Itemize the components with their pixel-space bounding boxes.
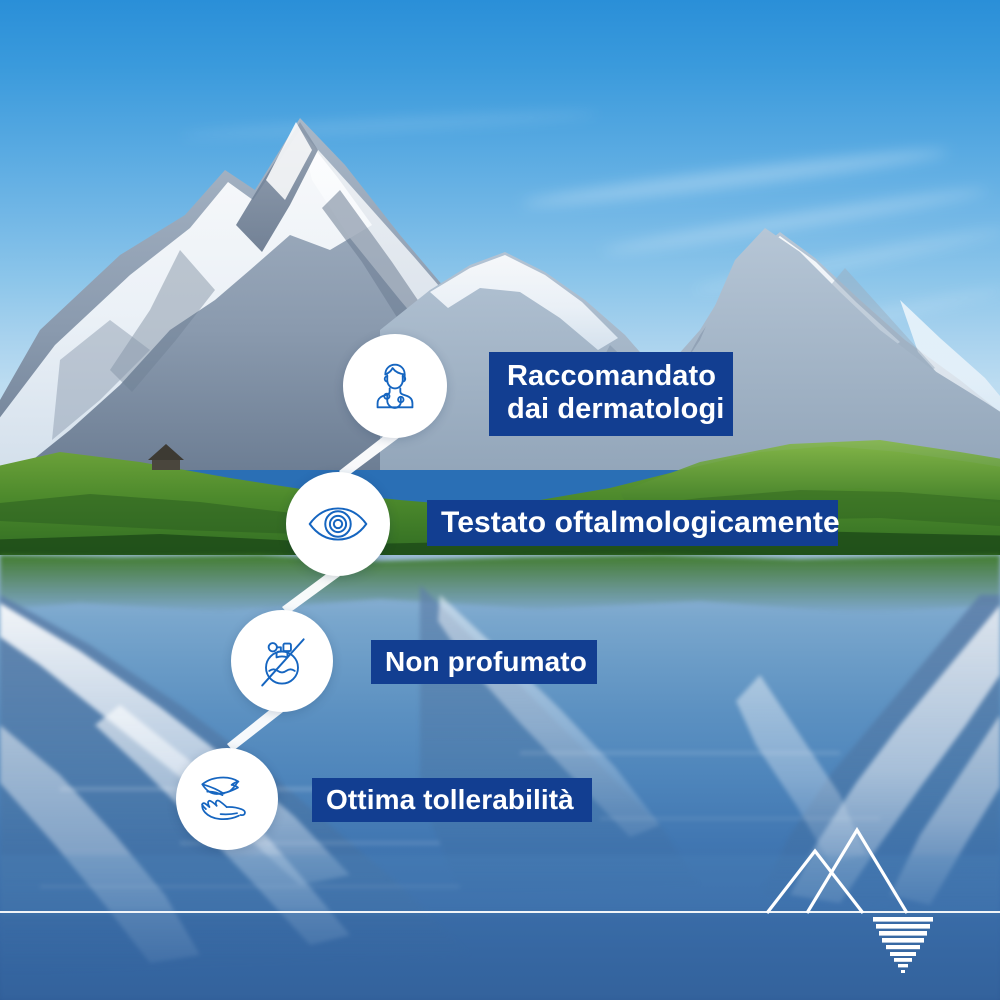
badge-bubble-no-perfume bbox=[231, 610, 333, 712]
mountain-range bbox=[0, 0, 1000, 560]
badge-label: Testato oftalmologicamente bbox=[441, 506, 840, 540]
no-perfume-icon bbox=[250, 629, 314, 693]
badge-bubble-hand-feather bbox=[176, 748, 278, 850]
badge-chip-fragrance-free[interactable]: Non profumato bbox=[371, 640, 597, 684]
badge-chip-ophthalmologically-tested[interactable]: Testato oftalmologicamente bbox=[427, 500, 838, 546]
badge-label-line-2: dai dermatologi bbox=[507, 393, 724, 426]
badge-bubble-dermatologists bbox=[343, 334, 447, 438]
inverted-triangle-mark bbox=[873, 917, 933, 973]
badge-label: Ottima tollerabilità bbox=[326, 784, 574, 816]
badge-chip-dermatologists[interactable]: Raccomandato dai dermatologi bbox=[489, 352, 733, 436]
badge-label-line-1: Raccomandato bbox=[507, 360, 716, 393]
badge-label: Non profumato bbox=[385, 646, 587, 678]
hand-feather-icon bbox=[194, 769, 260, 829]
badge-bubble-eye bbox=[286, 472, 390, 576]
eye-icon bbox=[305, 491, 371, 557]
doctor-icon bbox=[364, 355, 426, 417]
badge-chip-well-tolerated[interactable]: Ottima tollerabilità bbox=[312, 778, 592, 822]
promo-image: Raccomandato dai dermatologi Testato oft… bbox=[0, 0, 1000, 1000]
brand-logo bbox=[745, 818, 960, 978]
